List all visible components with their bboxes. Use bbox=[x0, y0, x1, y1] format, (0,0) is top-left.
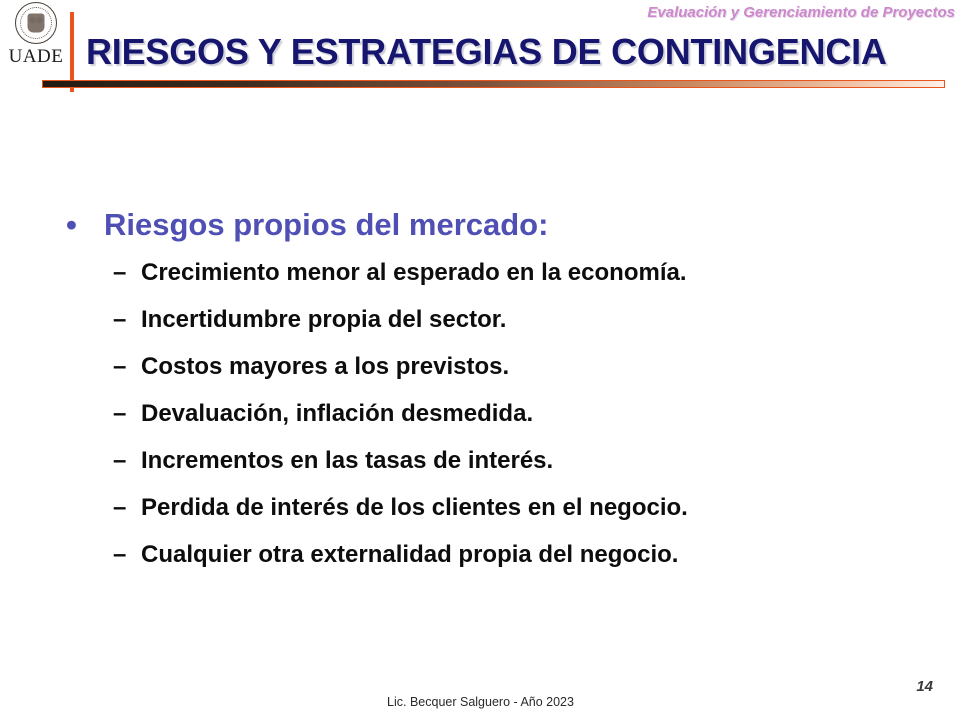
page-title: RIESGOS Y ESTRATEGIAS DE CONTINGENCIA bbox=[86, 31, 887, 73]
list-item-label: Perdida de interés de los clientes en el… bbox=[141, 494, 688, 521]
slide-header: UADE Evaluación y Gerenciamiento de Proy… bbox=[0, 0, 961, 100]
list-item: – Devaluación, inflación desmedida. bbox=[0, 390, 961, 437]
uade-seal-icon bbox=[15, 2, 57, 44]
list-item: – Costos mayores a los previstos. bbox=[0, 343, 961, 390]
list-item: – Crecimiento menor al esperado en la ec… bbox=[0, 249, 961, 296]
list-item: – Incrementos en las tasas de interés. bbox=[0, 437, 961, 484]
list-item-label: Incrementos en las tasas de interés. bbox=[141, 447, 553, 474]
list-item: – Cualquier otra externalidad propia del… bbox=[0, 531, 961, 578]
list-item: – Perdida de interés de los clientes en … bbox=[0, 484, 961, 531]
seal-crest-icon bbox=[28, 14, 45, 33]
list-item-label: Cualquier otra externalidad propia del n… bbox=[141, 541, 678, 568]
dash-icon: – bbox=[113, 343, 126, 390]
page-number: 14 bbox=[916, 678, 933, 695]
dash-icon: – bbox=[113, 437, 126, 484]
footer-credit: Lic. Becquer Salguero - Año 2023 bbox=[0, 695, 961, 709]
dash-icon: – bbox=[113, 249, 126, 296]
list-item: – Incertidumbre propia del sector. bbox=[0, 296, 961, 343]
uade-wordmark: UADE bbox=[4, 47, 68, 66]
dash-icon: – bbox=[113, 390, 126, 437]
course-subtitle: Evaluación y Gerenciamiento de Proyectos bbox=[647, 4, 955, 21]
level1-heading-label: Riesgos propios del mercado: bbox=[104, 207, 548, 242]
list-item-label: Devaluación, inflación desmedida. bbox=[141, 400, 533, 427]
dash-icon: – bbox=[113, 484, 126, 531]
slide-content: • Riesgos propios del mercado: – Crecimi… bbox=[0, 205, 961, 578]
uade-logo: UADE bbox=[4, 2, 68, 72]
dash-icon: – bbox=[113, 531, 126, 578]
dash-icon: – bbox=[113, 296, 126, 343]
list-item-label: Crecimiento menor al esperado en la econ… bbox=[141, 259, 687, 286]
header-gradient-rule bbox=[42, 80, 945, 88]
list-item-label: Costos mayores a los previstos. bbox=[141, 353, 509, 380]
list-item-label: Incertidumbre propia del sector. bbox=[141, 306, 506, 333]
bullet-dot-icon: • bbox=[66, 205, 77, 245]
risk-list: – Crecimiento menor al esperado en la ec… bbox=[0, 249, 961, 578]
level1-heading: • Riesgos propios del mercado: bbox=[0, 205, 961, 245]
